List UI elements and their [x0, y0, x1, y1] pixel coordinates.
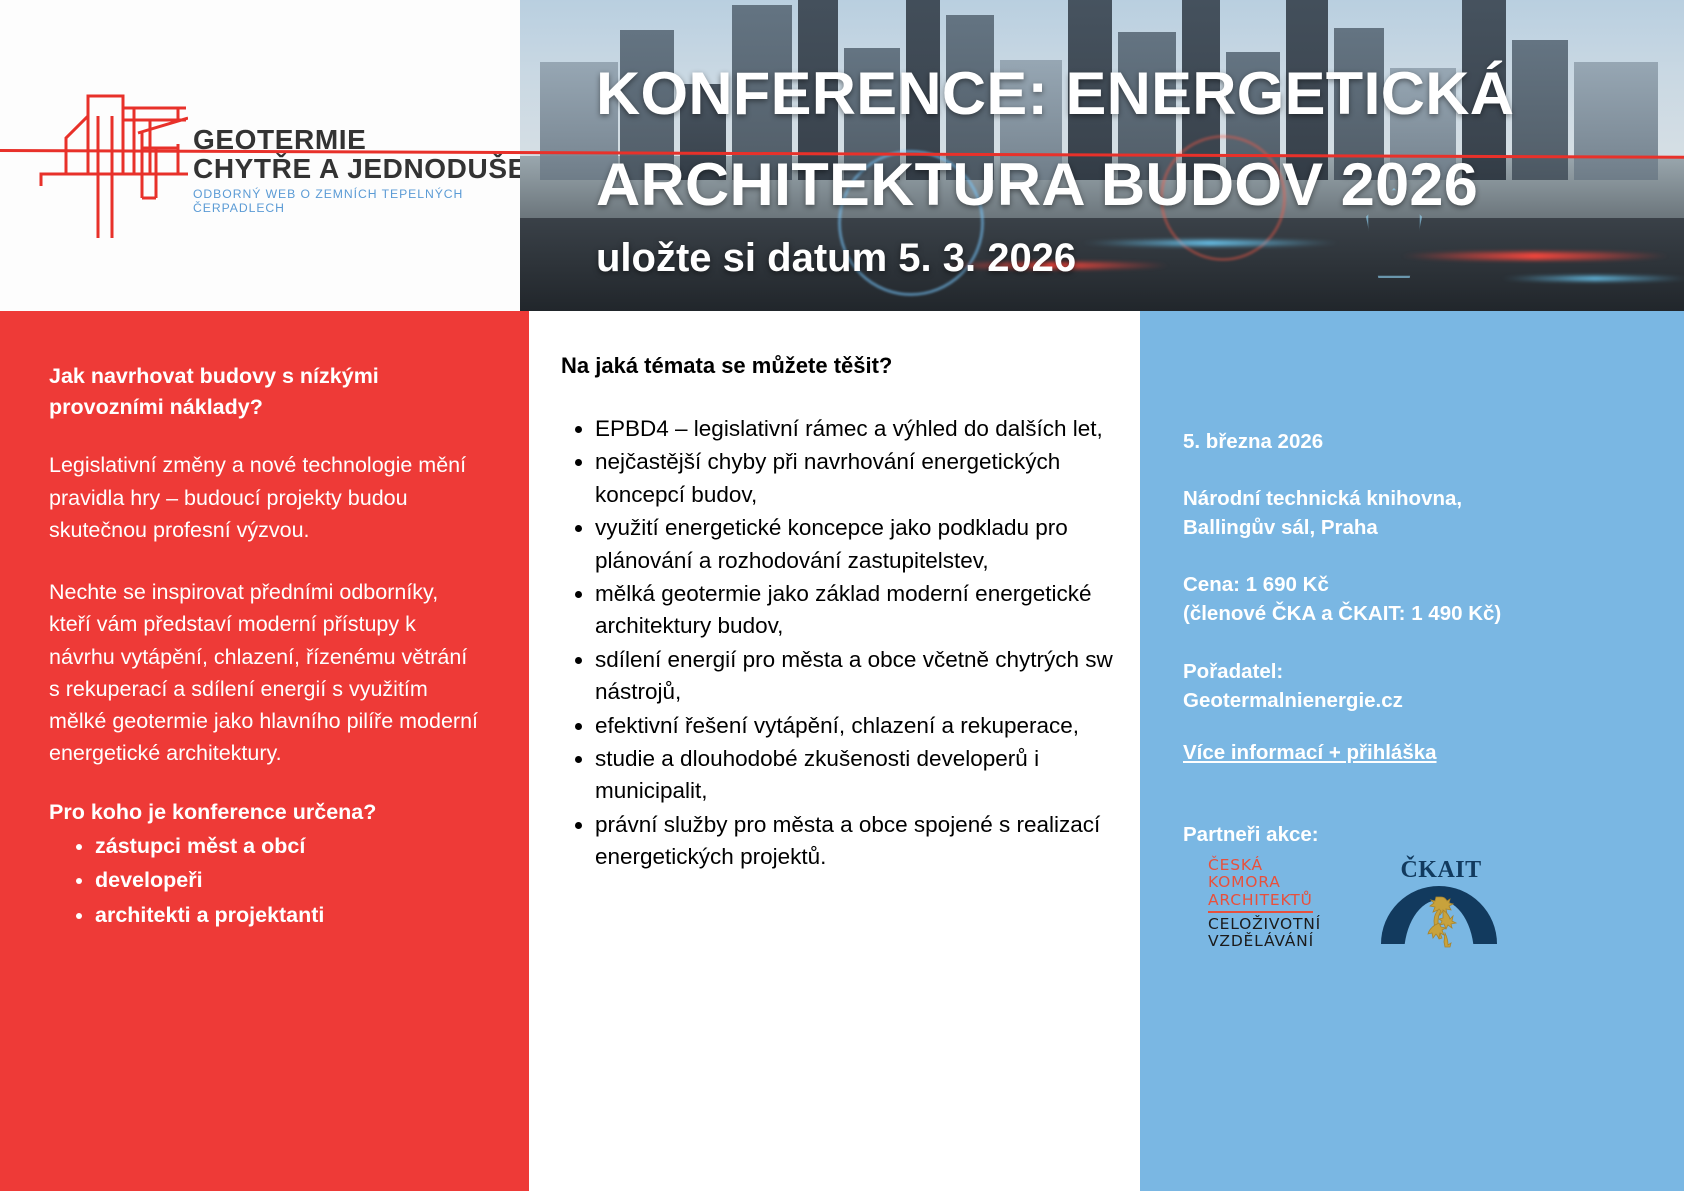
cka-line2: KOMORA [1208, 874, 1321, 891]
left-heading-2: Pro koho je konference určena? [49, 800, 479, 825]
audience-list: zástupci měst a obcí developeři architek… [49, 829, 479, 933]
venue-line-1: Národní technická knihovna, [1183, 484, 1684, 513]
logo-subtitle: ODBORNÝ WEB O ZEMNÍCH TEPELNÝCH ČERPADLE… [193, 187, 543, 215]
list-item: architekti a projektanti [95, 898, 479, 933]
list-item: právní služby pro města a obce spojené s… [595, 809, 1124, 874]
hero-title-block: KONFERENCE: ENERGETICKÁ ARCHITEKTURA BUD… [596, 62, 1666, 281]
topics-heading: Na jaká témata se můžete těšit? [545, 353, 1124, 379]
topics-list: EPBD4 – legislativní rámec a výhled do d… [545, 413, 1124, 873]
middle-topics-column: Na jaká témata se můžete těšit? EPBD4 – … [529, 311, 1140, 1191]
ckait-lion-emblem-icon [1419, 893, 1463, 949]
cka-logo[interactable]: ČESKÁ KOMORA ARCHITEKTŮ CELOŽIVOTNÍ VZDĚ… [1208, 857, 1321, 951]
ckait-logo[interactable]: ČKAIT [1381, 857, 1501, 965]
organizer-name: Geotermalnienergie.cz [1183, 686, 1684, 715]
cka-line1: ČESKÁ [1208, 857, 1321, 874]
left-paragraph-1: Legislativní změny a nové technologie mě… [49, 449, 479, 546]
ckait-wordmark: ČKAIT [1381, 857, 1501, 884]
price-standard: Cena: 1 690 Kč [1183, 570, 1684, 599]
cka-line4: CELOŽIVOTNÍ [1208, 916, 1321, 933]
organizer-label: Pořadatel: [1183, 657, 1684, 686]
venue-line-2: Ballingův sál, Praha [1183, 513, 1684, 542]
list-item: mělká geotermie jako základ moderní ener… [595, 578, 1124, 643]
hero-title-line2: ARCHITEKTURA BUDOV 2026 [596, 153, 1684, 218]
cka-line3: ARCHITEKTŮ [1208, 892, 1313, 912]
left-heading-1: Jak navrhovat budovy s nízkými provozním… [49, 361, 479, 423]
header-band: GEOTERMIE CHYTŘE A JEDNODUŠE ODBORNÝ WEB… [0, 0, 1684, 311]
right-info-column: 5. března 2026 Národní technická knihovn… [1140, 311, 1684, 1191]
list-item: nejčastější chyby při navrhování energet… [595, 446, 1124, 511]
price-members: (členové ČKA a ČKAIT: 1 490 Kč) [1183, 599, 1684, 628]
content-columns: Jak navrhovat budovy s nízkými provozním… [0, 311, 1684, 1191]
event-date: 5. března 2026 [1183, 427, 1684, 456]
logo-area: GEOTERMIE CHYTŘE A JEDNODUŠE ODBORNÝ WEB… [0, 0, 520, 311]
partners-heading: Partneři akce: [1183, 823, 1684, 847]
list-item: EPBD4 – legislativní rámec a výhled do d… [595, 413, 1124, 445]
list-item: efektivní řešení vytápění, chlazení a re… [595, 710, 1124, 742]
hero-title-line1: KONFERENCE: ENERGETICKÁ [596, 62, 1684, 127]
list-item: studie a dlouhodobé zkušenosti developer… [595, 743, 1124, 808]
building-outline-logo-icon [38, 78, 188, 238]
list-item: využití energetické koncepce jako podkla… [595, 512, 1124, 577]
cka-line5: VZDĚLÁVÁNÍ [1208, 933, 1321, 950]
hero-subtitle: uložte si datum 5. 3. 2026 [596, 236, 1666, 281]
list-item: sdílení energií pro města a obce včetně … [595, 644, 1124, 709]
list-item: developeři [95, 863, 479, 898]
left-paragraph-2: Nechte se inspirovat předními odborníky,… [49, 576, 479, 770]
brand-logo[interactable]: GEOTERMIE CHYTŘE A JEDNODUŠE ODBORNÝ WEB… [38, 78, 508, 243]
logo-wordmark: GEOTERMIE CHYTŘE A JEDNODUŠE ODBORNÝ WEB… [193, 126, 543, 215]
partner-logos-row: ČESKÁ KOMORA ARCHITEKTŮ CELOŽIVOTNÍ VZDĚ… [1208, 857, 1684, 965]
left-red-column: Jak navrhovat budovy s nízkými provozním… [0, 311, 529, 1191]
logo-line2: CHYTŘE A JEDNODUŠE [193, 155, 543, 184]
registration-link[interactable]: Více informací + přihláška [1183, 741, 1437, 765]
conference-poster: GEOTERMIE CHYTŘE A JEDNODUŠE ODBORNÝ WEB… [0, 0, 1684, 1191]
list-item: zástupci měst a obcí [95, 829, 479, 864]
